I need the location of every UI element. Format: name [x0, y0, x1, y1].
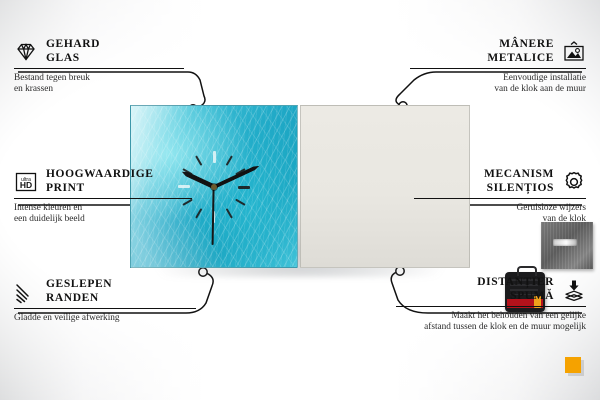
- feature-subtitle: Gladde en veilige afwerking: [14, 313, 196, 325]
- feature-subtitle: Intense kleuren eneen duidelijk beeld: [14, 203, 192, 226]
- feature-geslepen-randen: GESLEPENRANDEN Gladde en veilige afwerki…: [14, 278, 196, 324]
- clock-tick-12: [213, 151, 215, 223]
- clock-tick-6: [213, 151, 215, 223]
- foam-spacer: [565, 357, 581, 373]
- feature-header: MÂNEREMETALICE: [410, 38, 586, 65]
- clock-tick-7: [195, 155, 233, 218]
- feature-subtitle: Maakt het behouden van een gelijkeafstan…: [396, 311, 586, 334]
- feature-hoogwaardige-print: ultra HD HOOGWAARDIGEPRINT Intense kleur…: [14, 168, 192, 226]
- svg-text:HD: HD: [20, 180, 32, 190]
- wall-mount-frame-icon: [562, 40, 586, 64]
- feature-header: DISTANȚIERSPUMĂ: [396, 276, 586, 303]
- mechanism-hanger: [517, 266, 537, 276]
- feature-title: GESLEPENRANDEN: [46, 278, 112, 305]
- feature-gehard-glas: GEHARDGLAS Bestand tegen breuken krassen: [14, 38, 184, 96]
- metal-hanger-plate: [541, 222, 593, 269]
- feature-title: MECANISMSILENȚIOS: [484, 168, 554, 195]
- feature-divider: [14, 308, 196, 309]
- feature-title: MÂNEREMETALICE: [487, 38, 554, 65]
- feature-subtitle: Geruisloze wijzersvan de klok: [414, 203, 586, 226]
- clock-center-cap: [211, 184, 217, 190]
- feature-subtitle: Eenvoudige installatievan de klok aan de…: [410, 73, 586, 96]
- beveled-edges-icon: [14, 280, 38, 304]
- feature-divider: [396, 306, 586, 307]
- feature-title: GEHARDGLAS: [46, 38, 100, 65]
- feature-title: DISTANȚIERSPUMĂ: [477, 276, 554, 303]
- feature-header: ultra HD HOOGWAARDIGEPRINT: [14, 168, 192, 195]
- clock-tick-11: [195, 155, 233, 218]
- feature-manere-metalice: MÂNEREMETALICE Eenvoudige installatievan…: [410, 38, 586, 96]
- feature-divider: [410, 68, 586, 69]
- feature-divider: [14, 68, 184, 69]
- feature-mecanism-silentios: MECANISMSILENȚIOS Geruisloze wijzersvan …: [414, 168, 586, 226]
- feature-divider: [14, 198, 192, 199]
- clock-second-hand: [212, 186, 215, 244]
- feature-distantier-spuma: DISTANȚIERSPUMĂ Maakt het behouden van e…: [396, 276, 586, 334]
- feature-header: GESLEPENRANDEN: [14, 278, 196, 305]
- product-infographic: GEHARDGLAS Bestand tegen breuken krassen…: [0, 0, 600, 400]
- gear-icon: [562, 170, 586, 194]
- spacer-layers-icon: [562, 278, 586, 302]
- feature-header: MECANISMSILENȚIOS: [414, 168, 586, 195]
- hanger-slot: [553, 239, 577, 246]
- feature-subtitle: Bestand tegen breuken krassen: [14, 73, 184, 96]
- ultra-hd-icon: ultra HD: [14, 170, 38, 194]
- feature-title: HOOGWAARDIGEPRINT: [46, 168, 154, 195]
- feature-header: GEHARDGLAS: [14, 38, 184, 65]
- feature-divider: [414, 198, 586, 199]
- clock-minute-hand: [213, 164, 260, 189]
- clock-tick-1: [195, 155, 233, 218]
- clock-tick-5: [195, 155, 233, 218]
- diamond-icon: [14, 40, 38, 64]
